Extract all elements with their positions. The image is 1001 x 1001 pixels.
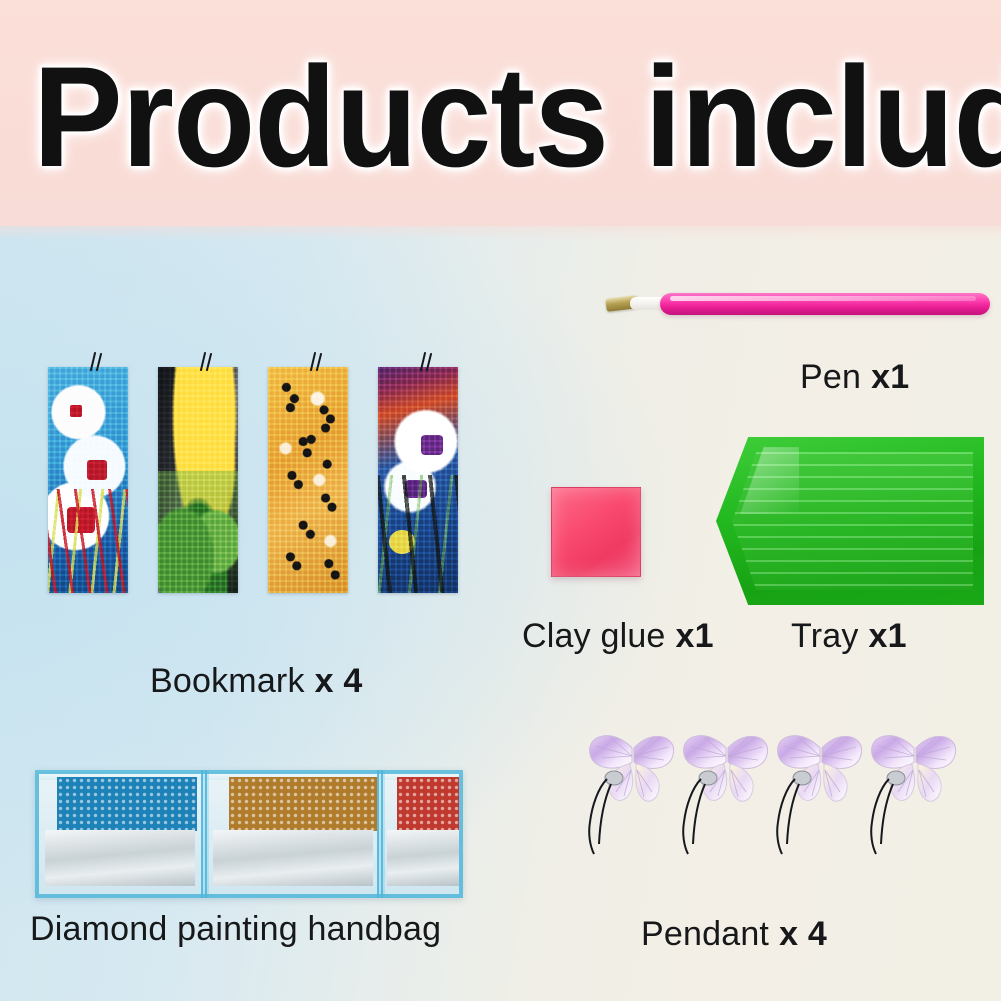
handbag-label: Diamond painting handbag: [30, 910, 441, 949]
pendant-item-4: [862, 722, 962, 907]
pendant-clasp: [699, 771, 717, 785]
handbag-trim: [35, 770, 463, 898]
pendant-label: Pendantx 4: [641, 915, 827, 954]
clay-glue-label-text: Clay glue: [522, 617, 666, 655]
clay-glue-quantity: x1: [676, 617, 714, 655]
pen-label-text: Pen: [800, 358, 861, 396]
pendant-cord: [881, 784, 893, 844]
pendant-item-1: [580, 722, 680, 907]
bookmark-qty-value: 4: [343, 662, 362, 700]
header-banner: Products include: [0, 0, 1001, 226]
butterfly-crystal: [684, 736, 768, 802]
pendant-clasp: [793, 771, 811, 785]
bookmark-item-2: [158, 367, 238, 593]
butterfly-crystal: [590, 736, 674, 802]
clay-glue-image: [551, 487, 641, 577]
butterfly-crystal: [778, 736, 862, 802]
pen-quantity: x1: [871, 358, 909, 396]
pendant-item-2: [674, 722, 774, 907]
bookmark-item-3: [268, 367, 348, 593]
pendant-clasp: [887, 771, 905, 785]
product-include-infographic: Products include: [0, 0, 1001, 1001]
rhinestone-texture: [48, 367, 128, 593]
pendant-quantity: x 4: [779, 915, 827, 953]
bookmark-quantity: x 4: [315, 662, 363, 700]
tray-image: [716, 437, 984, 605]
tray-label: Trayx1: [791, 617, 907, 656]
pen-label: Penx1: [800, 358, 909, 397]
pen-barrel: [660, 293, 990, 315]
butterfly-crystal: [872, 736, 956, 802]
handbag-image: [35, 770, 463, 898]
bookmark-label-text: Bookmark: [150, 662, 305, 700]
clay-glue-label: Clay gluex1: [522, 617, 714, 656]
bookmark-item-4: [378, 367, 458, 593]
pendant-cord: [599, 784, 611, 844]
pendant-label-text: Pendant: [641, 915, 769, 953]
rhinestone-texture: [378, 367, 458, 593]
rhinestone-texture: [268, 367, 348, 593]
page-title: Products include: [33, 46, 1001, 189]
pendant-group: [580, 722, 980, 907]
pendant-qty-value: 4: [808, 915, 827, 953]
pendant-cord: [693, 784, 705, 844]
tray-label-text: Tray: [791, 617, 859, 655]
pen-image: [604, 289, 990, 323]
rhinestone-texture: [158, 367, 238, 593]
tray-quantity: x1: [869, 617, 907, 655]
handbag-label-text: Diamond painting handbag: [30, 910, 441, 948]
bookmark-qty-prefix: x: [315, 662, 334, 700]
pendant-clasp: [605, 771, 623, 785]
pendant-item-3: [768, 722, 868, 907]
pendant-qty-prefix: x: [779, 915, 798, 953]
pendant-cord: [787, 784, 799, 844]
bookmark-label: Bookmarkx 4: [150, 662, 363, 701]
bookmark-item-1: [48, 367, 128, 593]
bookmark-group: [48, 357, 460, 597]
